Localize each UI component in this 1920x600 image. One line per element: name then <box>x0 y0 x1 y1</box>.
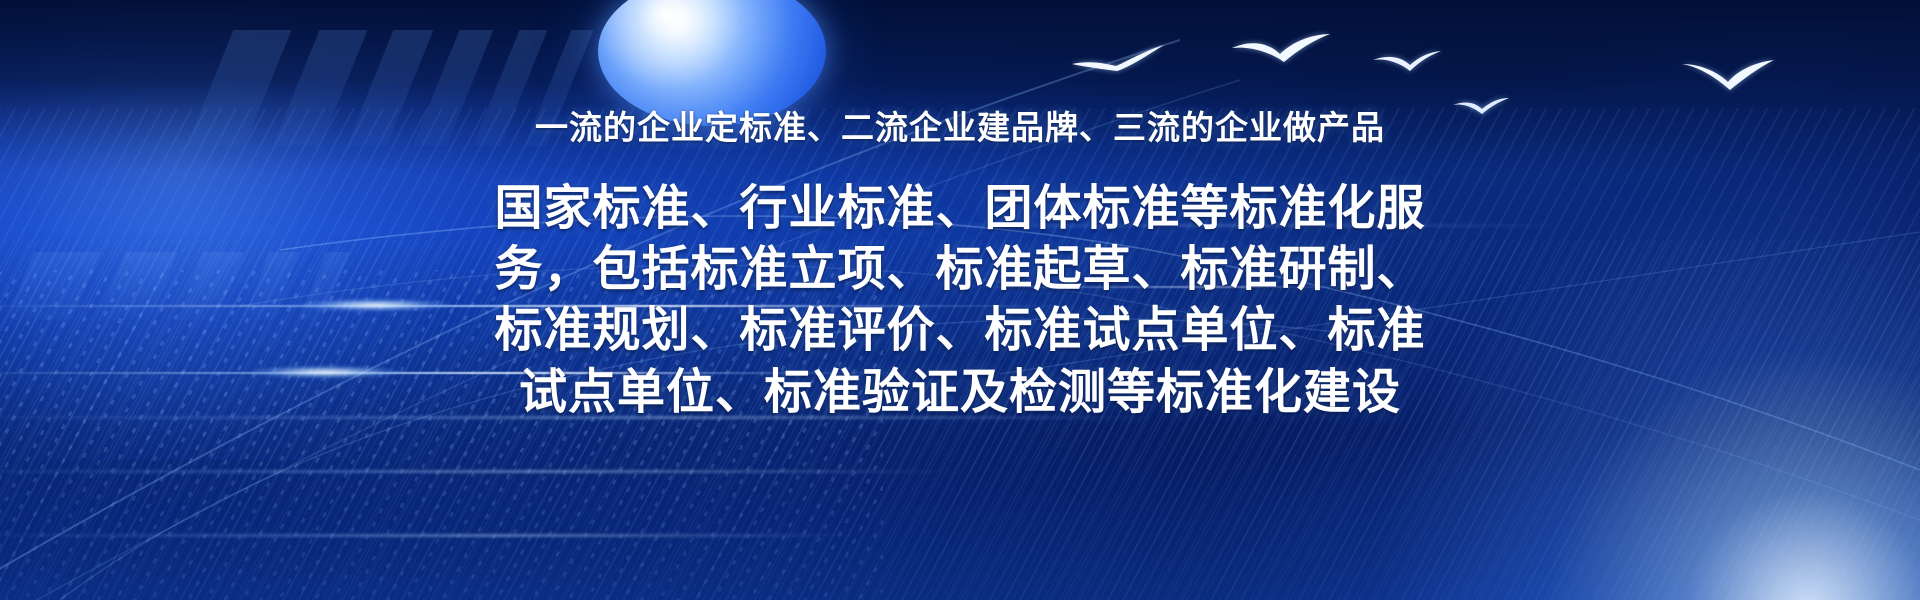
body-copy: 国家标准、行业标准、团体标准等标准化服 务，包括标准立项、标准起草、标准研制、 … <box>440 178 1480 424</box>
body-line-2: 务，包括标准立项、标准起草、标准研制、 <box>440 239 1480 300</box>
body-line-1: 国家标准、行业标准、团体标准等标准化服 <box>440 178 1480 239</box>
body-line-3: 标准规划、标准评价、标准试点单位、标准 <box>440 300 1480 361</box>
promo-banner: 一流的企业定标准、二流企业建品牌、三流的企业做产品 国家标准、行业标准、团体标准… <box>0 0 1920 600</box>
body-line-4: 试点单位、标准验证及检测等标准化建设 <box>440 362 1480 423</box>
headline: 一流的企业定标准、二流企业建品牌、三流的企业做产品 <box>535 108 1385 148</box>
text-block: 一流的企业定标准、二流企业建品牌、三流的企业做产品 国家标准、行业标准、团体标准… <box>0 0 1920 600</box>
